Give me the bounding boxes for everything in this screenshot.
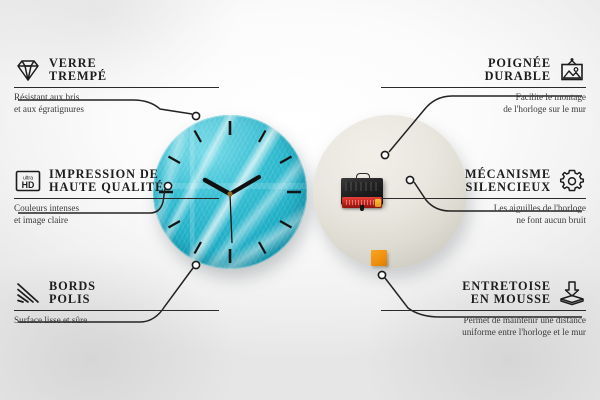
feature-divider	[381, 87, 586, 88]
feature-header: MÉCANISME SILENCIEUX	[381, 168, 586, 194]
feature-description: Permet de maintenir une distance uniform…	[381, 314, 586, 339]
feature-header: VERRE TREMPÉ	[14, 57, 219, 83]
feature-title-line2: DURABLE	[485, 70, 551, 83]
feature-header: ultra HD IMPRESSION DE HAUTE QUALITÉ	[14, 168, 219, 194]
feature-description: Les aiguilles de l'horloge ne font aucun…	[381, 202, 586, 227]
feature-title-line2: HAUTE QUALITÉ	[49, 181, 164, 194]
feature-description-line1: Couleurs intenses	[14, 202, 219, 214]
feature-verre-trempe: VERRE TREMPÉ Résistant aux bris et aux é…	[14, 57, 219, 116]
feature-description-line1: Permet de maintenir une distance	[381, 314, 586, 326]
gear-icon	[558, 168, 586, 194]
feature-title-line2: TREMPÉ	[49, 70, 107, 83]
feature-titles: IMPRESSION DE HAUTE QUALITÉ	[49, 168, 164, 194]
feature-titles: MÉCANISME SILENCIEUX	[465, 168, 551, 194]
feature-title-line2: EN MOUSSE	[471, 293, 551, 306]
feature-header: POIGNÉE DURABLE	[381, 57, 586, 83]
feature-divider	[14, 87, 219, 88]
feature-description-line2: uniforme entre l'horloge et le mur	[381, 326, 586, 338]
feature-description-line2: et image claire	[14, 214, 219, 226]
infographic-stage: VERRE TREMPÉ Résistant aux bris et aux é…	[0, 0, 600, 400]
feature-divider	[14, 198, 219, 199]
ultra-hd-icon: ultra HD	[14, 168, 42, 194]
movement-label	[345, 182, 379, 191]
battery-positive-terminal	[375, 199, 381, 207]
feature-impression-haute-qualite: ultra HD IMPRESSION DE HAUTE QUALITÉ Cou…	[14, 168, 219, 227]
feature-title-line2: POLIS	[49, 293, 96, 306]
feature-titles: VERRE TREMPÉ	[49, 57, 107, 83]
movement-shaft	[360, 205, 364, 211]
arrow-onto-pad-icon	[558, 280, 586, 306]
quartz-movement	[341, 178, 383, 215]
svg-text:HD: HD	[22, 180, 35, 190]
diamond-icon	[14, 57, 42, 83]
feature-description: Résistant aux bris et aux égratignures	[14, 91, 219, 116]
feature-titles: ENTRETOISE EN MOUSSE	[462, 280, 551, 306]
feature-poignee-durable: POIGNÉE DURABLE Facilite le montage de l…	[381, 57, 586, 116]
feature-description-line2: de l'horloge sur le mur	[381, 103, 586, 115]
feature-description: Couleurs intenses et image claire	[14, 202, 219, 227]
feature-divider	[14, 310, 219, 311]
hanging-picture-icon	[558, 57, 586, 83]
feature-description-line1: Surface lisse et sûre	[14, 314, 219, 326]
feature-description: Facilite le montage de l'horloge sur le …	[381, 91, 586, 116]
feature-description: Surface lisse et sûre	[14, 314, 219, 326]
foam-spacer	[371, 250, 389, 267]
feature-description-line2: et aux égratignures	[14, 103, 219, 115]
feature-header: BORDS POLIS	[14, 280, 219, 306]
feature-description-line1: Les aiguilles de l'horloge	[381, 202, 586, 214]
battery-label	[346, 200, 374, 205]
feature-titles: POIGNÉE DURABLE	[485, 57, 551, 83]
feature-header: ENTRETOISE EN MOUSSE	[381, 280, 586, 306]
beveled-edge-icon	[14, 280, 42, 306]
feature-divider	[381, 198, 586, 199]
feature-entretoise-en-mousse: ENTRETOISE EN MOUSSE Permet de maintenir…	[381, 280, 586, 339]
feature-titles: BORDS POLIS	[49, 280, 96, 306]
feature-mecanisme-silencieux: MÉCANISME SILENCIEUX Les aiguilles de l'…	[381, 168, 586, 227]
feature-divider	[381, 310, 586, 311]
feature-description-line1: Résistant aux bris	[14, 91, 219, 103]
foam-spacer-pad	[371, 250, 387, 266]
feature-title-line2: SILENCIEUX	[465, 181, 551, 194]
feature-description-line2: ne font aucun bruit	[381, 214, 586, 226]
feature-bords-polis: BORDS POLIS Surface lisse et sûre	[14, 280, 219, 326]
feature-description-line1: Facilite le montage	[381, 91, 586, 103]
